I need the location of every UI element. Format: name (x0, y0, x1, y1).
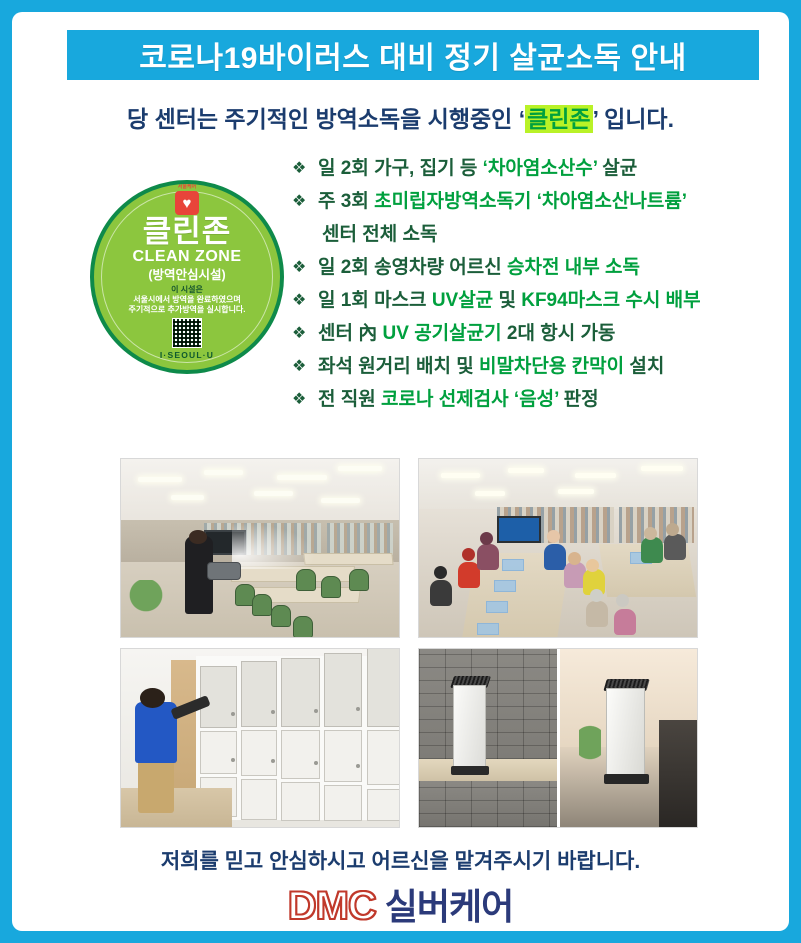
diamond-bullet-icon: ❖ (292, 188, 318, 216)
measure-item-label: 센터 전체 소독 (322, 221, 437, 249)
seal-desc-line-1: 이 시설은 (102, 285, 272, 295)
page-title: 코로나19바이러스 대비 정기 살균소독 안내 (139, 33, 686, 77)
measure-item-label: 일 1회 마스크 UV살균 및 KF94마스크 수시 배부 (318, 287, 701, 315)
measure-item: ❖좌석 원거리 배치 및 비말차단용 칸막이 설치 (292, 353, 789, 381)
poster-sheet: 코로나19바이러스 대비 정기 살균소독 안내 당 센터는 주기적인 방역소독을… (12, 12, 789, 931)
brand-logo: DMC 실버케어 전문화된 어르신 토탈-케어 서비스 (12, 878, 789, 931)
seal-title-kr: 클린존 (143, 216, 232, 248)
seal-title-en: CLEAN ZONE (133, 248, 242, 266)
measure-item-label: 좌석 원거리 배치 및 비말차단용 칸막이 설치 (318, 353, 664, 381)
subtitle-before: 당 센터는 주기적인 방역소독을 시행중인 (127, 106, 512, 132)
qr-code-icon (172, 318, 202, 348)
photo-disinfection-hall (120, 458, 400, 638)
photo-grid (120, 458, 698, 838)
brand-wordmark: DMC 실버케어 (288, 878, 514, 930)
diamond-bullet-icon: ❖ (292, 386, 318, 414)
seal-desc-line-2: 서울시에서 방역을 완료하였으며 (102, 295, 272, 305)
diamond-bullet-icon: ❖ (292, 353, 318, 381)
diamond-bullet-icon: ❖ (292, 320, 318, 348)
diamond-bullet-icon: ❖ (292, 155, 318, 183)
measure-item: ❖일 2회 송영차량 어르신 승차전 내부 소독 (292, 254, 789, 282)
photo-locker-sanitizing (120, 648, 400, 828)
poster-root: 코로나19바이러스 대비 정기 살균소독 안내 당 센터는 주기적인 방역소독을… (0, 0, 801, 943)
photo-uv-purifier-left (419, 649, 557, 827)
measure-item: ❖일 2회 가구, 집기 등 ‘차아염소산수’ 살균 (292, 155, 789, 183)
title-bar: 코로나19바이러스 대비 정기 살균소독 안내 (67, 30, 759, 80)
seal-desc-line-3: 주기적으로 추가방역을 실시합니다. (102, 305, 272, 315)
photo-seniors-partitions (418, 458, 698, 638)
subtitle-after: 입니다. (604, 106, 674, 132)
measure-item: ❖일 1회 마스크 UV살균 및 KF94마스크 수시 배부 (292, 287, 789, 315)
photo-uv-air-purifiers (418, 648, 698, 828)
i-seoul-u-slogan: I·SEOUL·U (160, 350, 214, 360)
measure-item-label: 센터 內 UV 공기살균기 2대 항시 가동 (318, 320, 615, 348)
measures-list: ❖일 2회 가구, 집기 등 ‘차아염소산수’ 살균❖주 3회 초미립자방역소독… (292, 155, 789, 419)
clean-zone-highlight: 클린존 (525, 105, 592, 133)
footer-message: 저희를 믿고 안심하시고 어르신을 맡겨주시기 바랍니다. (12, 845, 789, 875)
subtitle: 당 센터는 주기적인 방역소독을 시행중인 ‘클린존’ 입니다. (12, 100, 789, 134)
measure-item: ❖주 3회 초미립자방역소독기 ‘차아염소산나트륨’ (292, 188, 789, 216)
brand-dmc-text: DMC (288, 884, 376, 929)
photo-row-2 (120, 648, 698, 828)
measure-item-label: 일 2회 송영차량 어르신 승차전 내부 소독 (318, 254, 640, 282)
diamond-bullet-icon: ❖ (292, 254, 318, 282)
clean-zone-seal: 서울케어 ♥ 클린존 CLEAN ZONE (방역안심시설) 이 시설은 서울시… (90, 180, 284, 374)
photo-row-1 (120, 458, 698, 638)
diamond-bullet-icon: ❖ (292, 287, 318, 315)
measure-item-label: 주 3회 초미립자방역소독기 ‘차아염소산나트륨’ (318, 188, 687, 216)
measure-item-label: 전 직원 코로나 선제검사 ‘음성’ 판정 (318, 386, 599, 414)
seal-description: 이 시설은 서울시에서 방역을 완료하였으며 주기적으로 추가방역을 실시합니다… (102, 285, 272, 315)
quote-close: ’ (593, 106, 599, 132)
measure-item: ❖센터 內 UV 공기살균기 2대 항시 가동 (292, 320, 789, 348)
seal-subtitle: (방역안심시설) (148, 267, 225, 283)
photo-uv-purifier-right (560, 649, 698, 827)
measure-item: ❖전 직원 코로나 선제검사 ‘음성’ 판정 (292, 386, 789, 414)
seoul-care-heart-icon: 서울케어 ♥ (175, 191, 199, 215)
heart-glyph: ♥ (183, 196, 192, 211)
brand-korean-text: 실버케어 (385, 878, 513, 930)
measure-item-label: 일 2회 가구, 집기 등 ‘차아염소산수’ 살균 (318, 155, 637, 183)
seoul-care-label: 서울케어 (178, 183, 196, 190)
measure-item: 센터 전체 소독 (292, 221, 789, 249)
